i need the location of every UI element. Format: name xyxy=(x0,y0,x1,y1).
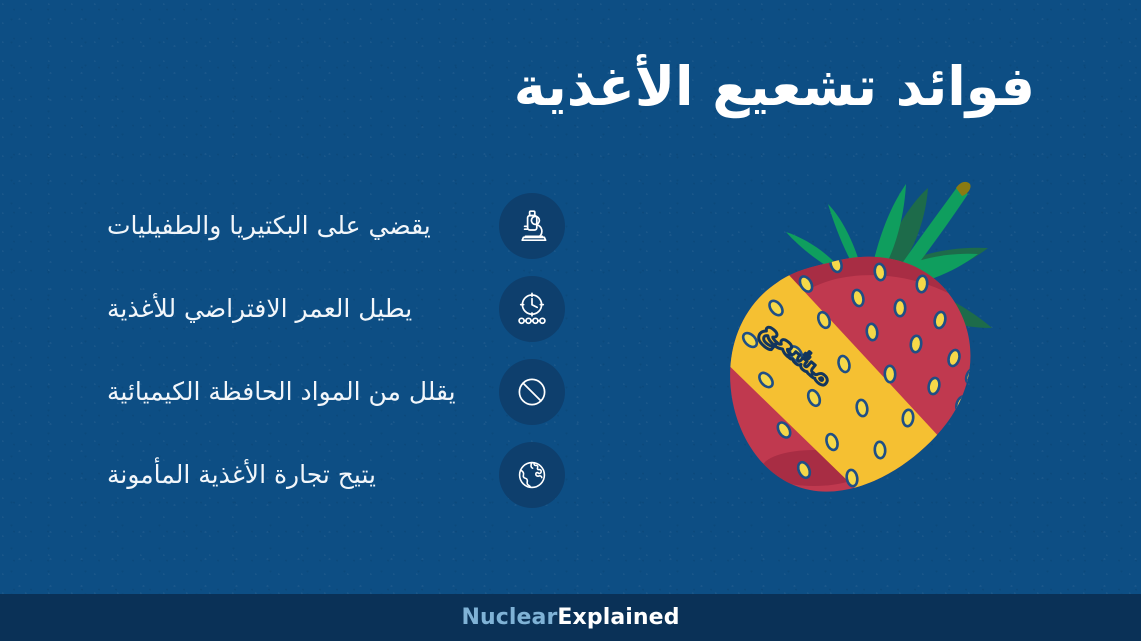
list-item-label: يقلل من المواد الحافظة الكيميائية xyxy=(85,376,499,407)
infographic-poster: فوائد تشعيع الأغذية يقضي على البكتيريا و… xyxy=(0,0,1141,641)
brand-part-nuclear: Nuclear xyxy=(461,605,557,630)
microscope-icon xyxy=(499,193,565,259)
footer-bar: NuclearExplained xyxy=(0,594,1141,641)
page-title: فوائد تشعيع الأغذية xyxy=(275,56,1035,118)
list-item-label: يتيح تجارة الأغذية المأمونة xyxy=(85,459,499,490)
list-item: يقضي على البكتيريا والطفيليات xyxy=(85,193,565,259)
brand-logo: NuclearExplained xyxy=(461,605,679,630)
brand-part-explained: Explained xyxy=(557,605,679,630)
strawberry-illustration: مشعع xyxy=(700,168,1030,520)
list-item: يقلل من المواد الحافظة الكيميائية xyxy=(85,359,565,425)
list-item: يتيح تجارة الأغذية المأمونة xyxy=(85,442,565,508)
prohibited-icon xyxy=(499,359,565,425)
list-item: يطيل العمر الافتراضي للأغذية xyxy=(85,276,565,342)
globe-icon xyxy=(499,442,565,508)
benefits-list: يقضي على البكتيريا والطفيليات xyxy=(85,193,565,508)
clock-timeline-icon xyxy=(499,276,565,342)
list-item-label: يقضي على البكتيريا والطفيليات xyxy=(85,210,499,241)
strawberry-body xyxy=(700,246,980,520)
list-item-label: يطيل العمر الافتراضي للأغذية xyxy=(85,293,499,324)
